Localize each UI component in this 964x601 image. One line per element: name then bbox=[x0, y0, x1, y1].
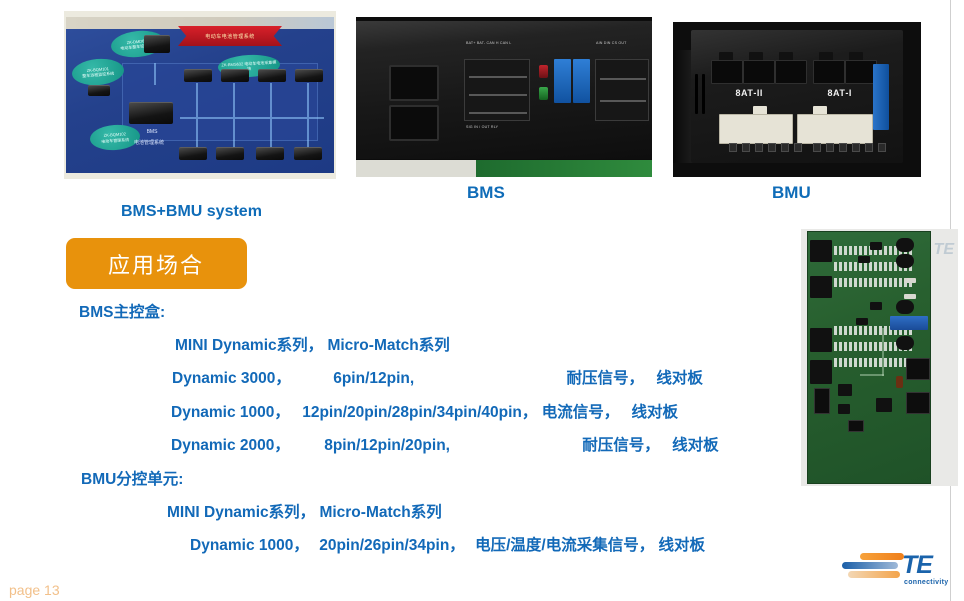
spec-connection-type: 线对板 bbox=[659, 533, 706, 555]
poster-module bbox=[179, 147, 207, 160]
poster-module bbox=[88, 85, 110, 96]
spec-connection-type: 线对板 bbox=[672, 433, 719, 455]
poster-module bbox=[184, 69, 212, 82]
spec-row-bmu-dynamic1000: Dynamic 1000， 20pin/26pin/34pin， 电压/温度/电… bbox=[190, 533, 705, 555]
section-banner-application: 应用场合 bbox=[66, 238, 247, 289]
poster-bus-line bbox=[233, 119, 235, 147]
logo-bar-light bbox=[848, 571, 900, 578]
pcb-blue-connector bbox=[890, 316, 928, 330]
pcb-ic bbox=[810, 276, 832, 298]
bmu-vent-slot bbox=[702, 74, 705, 114]
bmu-vent-slot bbox=[695, 74, 698, 114]
bms-green-mat bbox=[476, 160, 652, 177]
bmu-blue-connector bbox=[873, 64, 889, 130]
spec-pins: 8pin/12pin/20pin, bbox=[324, 437, 450, 455]
photo-bms-controller: BAT+ BAT- CAN H CAN L SIG IN / OUT RLY A… bbox=[356, 17, 652, 177]
bmu-black-connector bbox=[711, 60, 743, 84]
pcb-solder-pad bbox=[904, 294, 916, 299]
pcb-transistor bbox=[870, 242, 882, 250]
spec-series: Dynamic 1000， bbox=[190, 533, 309, 555]
poster-module bbox=[294, 147, 322, 160]
poster-module bbox=[144, 35, 170, 53]
pcb-te-watermark: TE bbox=[934, 241, 954, 259]
bms-desk-surface bbox=[356, 160, 486, 177]
poster-red-banner: 电动车电池管理系统 bbox=[178, 26, 282, 46]
pcb-ic bbox=[810, 360, 832, 384]
poster-module bbox=[216, 147, 244, 160]
spec-heading-bms: BMS主控盒: bbox=[79, 300, 165, 322]
pcb-capacitor bbox=[896, 376, 903, 388]
bms-power-connector bbox=[389, 65, 439, 101]
pcb-solder-pad bbox=[904, 278, 916, 283]
poster-bus-line bbox=[307, 119, 309, 147]
poster-bms-label-cn: 电池管理系统 bbox=[119, 139, 179, 146]
poster-bus-line bbox=[180, 117, 324, 119]
spec-series: Dynamic 3000， bbox=[172, 366, 291, 388]
spec-signal: 电压/温度/电流采集信号， bbox=[475, 533, 654, 555]
spec-row-bms-series: MINI Dynamic系列， Micro-Match系列 bbox=[175, 333, 450, 355]
spec-row-bmu-series: MINI Dynamic系列， Micro-Match系列 bbox=[167, 500, 442, 522]
bmu-black-connector bbox=[743, 60, 775, 84]
pcb-mcu bbox=[876, 398, 892, 412]
poster-module bbox=[295, 69, 323, 82]
logo-wordmark: TE bbox=[902, 551, 932, 580]
pcb-trace bbox=[882, 328, 884, 376]
spec-series: Dynamic 2000， bbox=[171, 433, 290, 455]
bmu-black-connector bbox=[813, 60, 845, 84]
bmu-side-wall bbox=[673, 50, 693, 163]
bmu-label-bat-ii: II-TA8 bbox=[735, 88, 762, 98]
spec-row-bms-dynamic3000: Dynamic 3000， 6pin/12pin, 耐压信号， 线对板 bbox=[172, 366, 703, 388]
bms-signal-header bbox=[595, 59, 649, 121]
caption-bms: BMS bbox=[467, 183, 505, 203]
spec-series: Dynamic 1000， bbox=[171, 400, 290, 422]
bmu-label-bat-i: I-TA8 bbox=[827, 88, 851, 98]
poster-module bbox=[221, 69, 249, 82]
spec-row-bms-dynamic2000: Dynamic 2000， 8pin/12pin/20pin, 耐压信号， 线对… bbox=[171, 433, 719, 455]
pcb-resistor-array bbox=[834, 358, 912, 367]
bmu-black-connector bbox=[775, 60, 807, 84]
poster-callout-bubble: ZK-BQM101整车远程监控系统 bbox=[71, 57, 125, 87]
spec-pins: 12pin/20pin/28pin/34pin/40pin， bbox=[302, 400, 537, 422]
spec-signal: 电流信号， bbox=[542, 400, 620, 422]
bmu-bottom-pin-row bbox=[729, 143, 899, 155]
poster-module bbox=[256, 147, 284, 160]
bms-silkscreen-text: BAT+ BAT- CAN H CAN L bbox=[466, 41, 512, 45]
poster-banner-text: 电动车电池管理系统 bbox=[205, 33, 255, 40]
bms-power-connector bbox=[389, 105, 439, 141]
photo-bmu-unit: II-TA8 I-TA8 bbox=[673, 22, 921, 177]
spec-row-bms-dynamic1000: Dynamic 1000， 12pin/20pin/28pin/34pin/40… bbox=[171, 400, 678, 422]
spec-pins: 20pin/26pin/34pin， bbox=[319, 533, 465, 555]
bms-housing: BAT+ BAT- CAN H CAN L SIG IN / OUT RLY A… bbox=[356, 21, 652, 159]
pcb-ic bbox=[810, 240, 832, 262]
spec-signal: 耐压信号， bbox=[567, 366, 645, 388]
logo-bar-orange bbox=[860, 553, 904, 560]
pcb-relay bbox=[896, 254, 914, 268]
section-banner-title: 应用场合 bbox=[108, 248, 204, 280]
slide-canvas: 电动车电池管理系统 ZK-DMD620电动车整车控制系统 ZK-BQM101整车… bbox=[0, 0, 964, 601]
poster-bus-line bbox=[196, 83, 198, 117]
pcb-relay bbox=[896, 238, 914, 252]
pcb-db9-connector bbox=[906, 392, 930, 414]
pcb-mcu bbox=[838, 404, 850, 414]
spec-heading-bmu: BMU分控单元: bbox=[81, 467, 183, 489]
bmu-white-connector bbox=[719, 114, 793, 144]
poster-bus-line bbox=[270, 83, 272, 117]
logo-tagline: connectivity bbox=[904, 579, 948, 586]
pcb-transistor bbox=[856, 318, 868, 325]
spec-signal: 耐压信号， bbox=[582, 433, 660, 455]
poster-bus-line bbox=[270, 119, 272, 147]
spec-connection-type: 线对板 bbox=[632, 400, 679, 422]
photo-bms-bmu-poster: 电动车电池管理系统 ZK-DMD620电动车整车控制系统 ZK-BQM101整车… bbox=[64, 11, 336, 179]
poster-module bbox=[258, 69, 286, 82]
pcb-trace bbox=[860, 374, 884, 376]
poster-bms-label-en: BMS bbox=[122, 129, 182, 135]
pcb-header bbox=[848, 420, 864, 432]
logo-bar-blue bbox=[842, 562, 898, 569]
te-connectivity-logo: TE connectivity bbox=[836, 551, 944, 589]
bms-silkscreen-text: AIN DIN CS OUT bbox=[596, 41, 627, 45]
bmu-housing: II-TA8 I-TA8 bbox=[691, 30, 903, 163]
pcb-resistor-array bbox=[834, 278, 912, 287]
bms-silkscreen-text: SIG IN / OUT RLY bbox=[466, 125, 498, 129]
poster-bus-line bbox=[196, 119, 198, 147]
pcb-board bbox=[807, 231, 931, 484]
bms-blue-connector bbox=[573, 59, 590, 103]
spec-connection-type: 线对板 bbox=[656, 366, 703, 388]
page-number: page 13 bbox=[9, 582, 60, 598]
pcb-relay bbox=[896, 300, 914, 314]
poster-bus-line bbox=[307, 83, 309, 117]
poster-module bbox=[129, 102, 173, 124]
poster-bus-line bbox=[154, 63, 156, 85]
caption-bmu: BMU bbox=[772, 183, 811, 203]
spec-pins: 6pin/12pin, bbox=[333, 370, 414, 388]
pcb-mcu bbox=[838, 384, 852, 396]
poster-callout-bubble: ZK-BQM102电动车管理系统 bbox=[89, 123, 141, 151]
bms-led-red bbox=[539, 65, 548, 78]
poster-board: 电动车电池管理系统 ZK-DMD620电动车整车控制系统 ZK-BQM101整车… bbox=[66, 17, 334, 173]
bms-led-green bbox=[539, 87, 548, 100]
bms-blue-connector bbox=[554, 59, 571, 103]
poster-bus-line bbox=[233, 83, 235, 117]
pcb-ic bbox=[810, 328, 832, 352]
pcb-header bbox=[814, 388, 830, 414]
caption-bms-bmu-system: BMS+BMU system bbox=[121, 203, 262, 221]
bmu-white-connector bbox=[797, 114, 873, 144]
bms-pin-header bbox=[464, 59, 530, 121]
pcb-relay bbox=[896, 336, 914, 350]
pcb-transistor bbox=[858, 256, 870, 263]
photo-bmu-pcb: TE bbox=[801, 229, 958, 486]
pcb-db9-connector bbox=[906, 358, 930, 380]
pcb-transistor bbox=[870, 302, 882, 310]
